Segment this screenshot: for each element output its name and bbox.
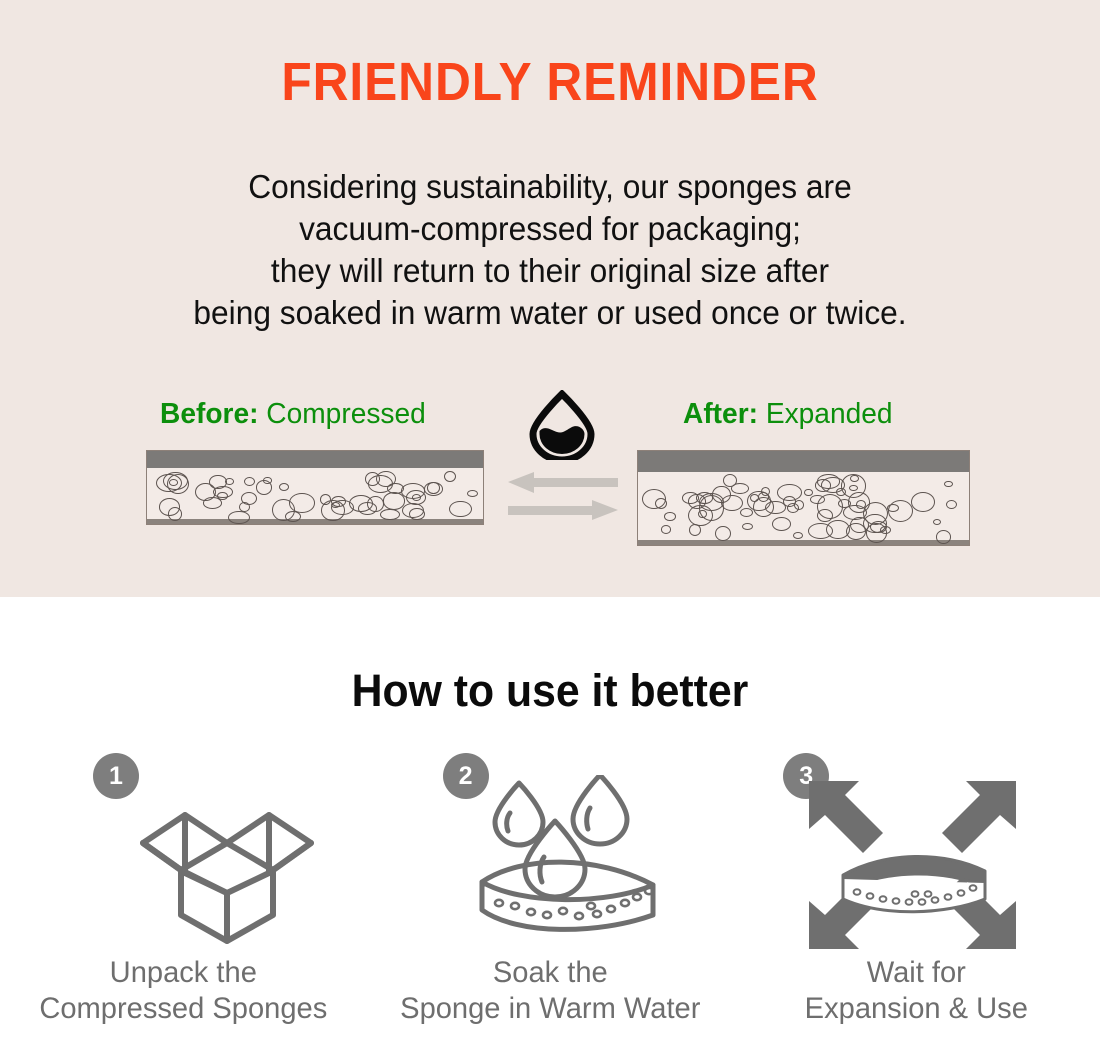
sponge-pore (880, 526, 891, 534)
step-caption: Wait for Expansion & Use (739, 955, 1095, 1027)
step-caption-line-2: Expansion & Use (739, 991, 1095, 1027)
sponge-pore (712, 486, 730, 503)
expand-arrows-sponge-icon (805, 775, 1020, 960)
step-item: 2 (367, 747, 734, 1037)
sponge-pore (168, 507, 182, 521)
sponge-pore (449, 501, 472, 518)
sponge-pore (715, 526, 731, 542)
step-caption-line-2: Compressed Sponges (5, 991, 361, 1027)
step-number-badge: 1 (93, 753, 139, 799)
reminder-body-text: Considering sustainability, our sponges … (22, 166, 1078, 334)
friendly-reminder-section: FRIENDLY REMINDER Considering sustainabi… (0, 0, 1100, 597)
step-caption: Soak the Sponge in Warm Water (372, 955, 728, 1027)
sponge-pore (808, 523, 833, 539)
before-label-rest: Compressed (258, 398, 425, 430)
sponge-pore (467, 490, 478, 497)
sponge-pore (380, 509, 399, 521)
sponge-pore (772, 517, 791, 531)
howto-title: How to use it better (28, 665, 1073, 717)
before-label: Before: Compressed (160, 398, 426, 431)
sponge-pore (655, 498, 667, 509)
sponge-pore (696, 492, 713, 503)
water-drop-icon (525, 390, 599, 460)
after-label: After: Expanded (683, 398, 893, 431)
sponge-pore (742, 523, 753, 530)
sponge-pore (689, 524, 701, 536)
sponge-pore (911, 492, 935, 512)
sponge-pore (793, 532, 803, 539)
sponge-scrub-pad (147, 451, 483, 468)
reminder-body-line-2: vacuum-compressed for packaging; (22, 208, 1078, 250)
sponge-pore (731, 483, 749, 494)
step-caption: Unpack the Compressed Sponges (5, 955, 361, 1027)
sponge-pore (163, 472, 188, 490)
step-caption-line-1: Unpack the (5, 955, 361, 991)
sponge-pore (427, 482, 440, 493)
sponge-pore (209, 475, 226, 489)
step-caption-line-1: Wait for (739, 955, 1095, 991)
sponge-pore (244, 477, 256, 487)
sponge-pore (409, 508, 424, 520)
sponge-pore (946, 500, 957, 509)
sponge-pore (740, 508, 753, 517)
sponge-pore (444, 471, 456, 483)
after-label-strong: After: (683, 398, 758, 430)
step-caption-line-1: Soak the (372, 955, 728, 991)
how-to-use-section: How to use it better 1 (0, 597, 1100, 1039)
open-box-icon (135, 775, 320, 955)
reminder-body-line-1: Considering sustainability, our sponges … (22, 166, 1078, 208)
steps-list: 1 (0, 747, 1100, 1037)
sponge-pore (241, 492, 257, 505)
sponge-pore (821, 477, 845, 493)
step-item: 3 (733, 747, 1100, 1037)
sponge-pore (263, 477, 271, 484)
sponge-pore (272, 499, 294, 521)
sponge-base-strip (638, 540, 969, 545)
sponge-pore (661, 525, 671, 533)
water-drops-on-sponge-icon (477, 775, 687, 955)
sponge-pore (849, 485, 858, 491)
infographic-page: FRIENDLY REMINDER Considering sustainabi… (0, 0, 1100, 1039)
before-label-strong: Before: (160, 398, 258, 430)
reminder-body-line-4: being soaked in warm water or used once … (22, 292, 1078, 334)
sponge-base-strip (147, 519, 483, 524)
sponge-pore (331, 500, 354, 515)
sponge-pore (358, 502, 377, 515)
sponge-pore (765, 501, 785, 514)
sponge-compressed-illustration (146, 450, 484, 525)
sponge-pore (794, 500, 805, 510)
sponge-pore (810, 495, 824, 505)
sponge-pore (933, 519, 941, 525)
after-label-rest: Expanded (758, 398, 893, 430)
two-way-arrows-icon (508, 472, 618, 520)
step-caption-line-2: Sponge in Warm Water (372, 991, 728, 1027)
sponge-pore (850, 517, 869, 534)
page-title: FRIENDLY REMINDER (44, 54, 1056, 111)
sponge-scrub-pad (638, 451, 969, 472)
reminder-body-line-3: they will return to their original size … (22, 250, 1078, 292)
sponge-expanded-illustration (637, 450, 970, 546)
sponge-pore (279, 483, 289, 491)
step-item: 1 (0, 747, 367, 1037)
sponge-pore (664, 512, 675, 521)
sponge-pore (944, 481, 953, 488)
